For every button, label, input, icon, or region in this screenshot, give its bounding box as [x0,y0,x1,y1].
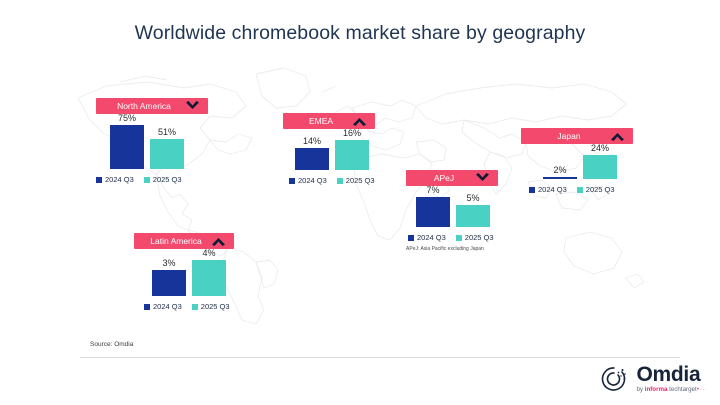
legend-label-2025: 2025 Q3 [153,175,182,184]
bar-chart-latin-america: 3% 4% [152,249,234,296]
chevron-down-icon [185,101,200,111]
omdia-word: Omdia [636,364,706,385]
bar-value-2025: 24% [591,144,609,153]
region-label: North America [117,101,171,111]
bar-2024 [416,197,450,227]
legend-emea: 2024 Q3 2025 Q3 [289,176,375,185]
region-label: EMEA [309,116,333,126]
chevron-up-icon [211,236,226,246]
chevron-up-icon [352,116,367,126]
chevron-down-icon [475,173,490,183]
region-label: APeJ [434,173,454,183]
legend-swatch-2024 [529,187,535,193]
region-badge-japan[interactable]: Japan [521,128,633,144]
bar-group-2025: 4% [192,249,226,296]
region-badge-emea[interactable]: EMEA [283,113,375,129]
legend-label-2024: 2024 Q3 [153,302,182,311]
bar-value-2024: 14% [303,137,321,146]
bar-chart-emea: 14% 16% [295,129,375,170]
bar-value-2024: 75% [118,114,136,123]
chevron-up-icon [610,131,625,141]
legend-item-2024: 2024 Q3 [289,176,327,185]
legend-swatch-2024 [96,177,102,183]
bar-value-2024: 3% [162,259,175,268]
footer-divider [80,357,680,358]
region-group-japan[interactable]: Japan 2% 24% 2024 Q3 2025 Q3 [521,128,633,194]
legend-item-2024: 2024 Q3 [96,175,134,184]
legend-item-2025: 2025 Q3 [192,302,230,311]
legend-label-2024: 2024 Q3 [298,176,327,185]
legend-swatch-2025 [192,304,198,310]
omdia-tagline: by informa techtarget•·· [636,387,706,393]
legend-item-2025: 2025 Q3 [456,233,494,242]
omdia-wordmark: Omdia by informa techtarget•·· [636,364,706,393]
slide-canvas: Worldwide chromebook market share by geo… [0,0,720,405]
legend-north-america: 2024 Q3 2025 Q3 [96,175,208,184]
legend-swatch-2025 [337,178,343,184]
bar-value-2024: 7% [426,186,439,195]
legend-japan: 2024 Q3 2025 Q3 [529,185,633,194]
legend-label-2025: 2025 Q3 [465,233,494,242]
legend-label-2024: 2024 Q3 [417,233,446,242]
legend-label-2025: 2025 Q3 [346,176,375,185]
tagline-dots-icon: •·· [697,386,706,393]
legend-item-2024: 2024 Q3 [408,233,446,242]
bar-group-2025: 24% [583,144,617,179]
region-label: Japan [557,131,580,141]
legend-label-2025: 2025 Q3 [201,302,230,311]
bar-value-2025: 51% [158,128,176,137]
tagline-prefix: by [636,386,644,393]
legend-label-2024: 2024 Q3 [538,185,567,194]
region-badge-apej[interactable]: APeJ [406,170,498,186]
legend-latin-america: 2024 Q3 2025 Q3 [144,302,234,311]
legend-swatch-2024 [289,178,295,184]
bar-2024 [543,177,577,179]
bar-2025 [456,205,490,227]
bar-group-2024: 3% [152,259,186,296]
page-title: Worldwide chromebook market share by geo… [0,22,720,45]
bar-value-2025: 16% [343,129,361,138]
legend-item-2024: 2024 Q3 [529,185,567,194]
bar-value-2025: 4% [202,249,215,258]
bar-2024 [295,148,329,170]
bar-group-2024: 7% [416,186,450,227]
tagline-suffix: techtarget [667,386,696,393]
region-group-north-america[interactable]: North America 75% 51% 2024 Q3 2025 Q3 [96,98,208,184]
bar-2025 [335,140,369,170]
bar-group-2025: 5% [456,194,490,227]
bar-value-2024: 2% [553,166,566,175]
bar-2025 [583,155,617,179]
region-badge-north-america[interactable]: North America [96,98,208,114]
omdia-logo: Omdia by informa techtarget•·· [599,364,706,394]
bar-chart-apej: 7% 5% [416,186,498,227]
legend-swatch-2025 [456,235,462,241]
region-group-latin-america[interactable]: Latin America 3% 4% 2024 Q3 2025 Q3 [134,233,234,311]
omdia-mark-icon [599,364,629,394]
legend-item-2025: 2025 Q3 [577,185,615,194]
footnote-apej: APeJ: Asia Pacific excluding Japan [406,246,498,252]
tagline-brand: informa [645,386,668,393]
legend-label-2024: 2024 Q3 [105,175,134,184]
bar-group-2024: 75% [110,114,144,169]
region-group-apej[interactable]: APeJ 7% 5% 2024 Q3 2025 Q3 [406,170,498,252]
legend-swatch-2024 [144,304,150,310]
legend-swatch-2024 [408,235,414,241]
bar-2025 [192,260,226,296]
bar-group-2024: 14% [295,137,329,170]
bar-group-2025: 16% [335,129,369,170]
region-group-emea[interactable]: EMEA 14% 16% 2024 Q3 2025 Q3 [283,113,375,185]
bar-2024 [152,270,186,296]
source-text: Source: Omdia [90,341,133,348]
bar-2024 [110,125,144,169]
legend-label-2025: 2025 Q3 [586,185,615,194]
region-label: Latin America [150,236,202,246]
legend-apej: 2024 Q3 2025 Q3 [408,233,498,242]
legend-swatch-2025 [577,187,583,193]
bar-2025 [150,139,184,169]
bar-value-2025: 5% [466,194,479,203]
region-badge-latin-america[interactable]: Latin America [134,233,234,249]
legend-item-2024: 2024 Q3 [144,302,182,311]
bar-chart-north-america: 75% 51% [110,114,208,169]
legend-swatch-2025 [144,177,150,183]
bar-group-2024: 2% [543,166,577,179]
legend-item-2025: 2025 Q3 [337,176,375,185]
bar-chart-japan: 2% 24% [543,144,633,179]
bar-group-2025: 51% [150,128,184,169]
legend-item-2025: 2025 Q3 [144,175,182,184]
